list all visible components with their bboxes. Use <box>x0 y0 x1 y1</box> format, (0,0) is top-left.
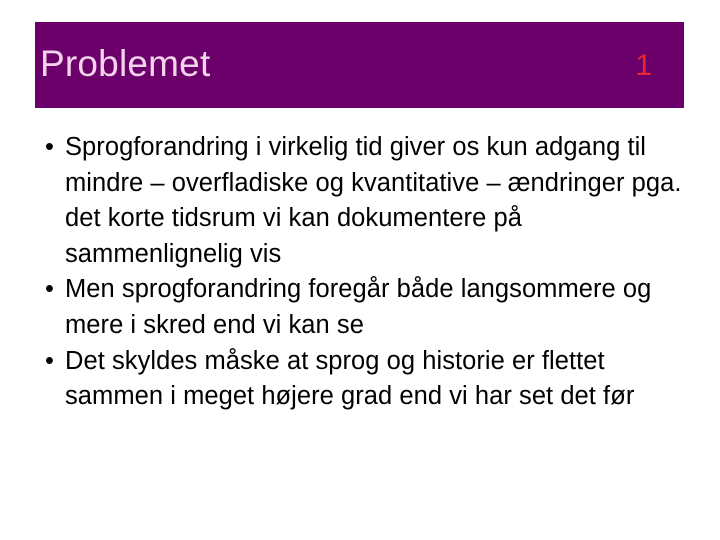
list-item: • Men sprogforandring foregår både langs… <box>33 272 683 343</box>
title-banner: Problemet 1 <box>35 22 684 108</box>
list-item: • Sprogforandring i virkelig tid giver o… <box>33 130 683 272</box>
slide-canvas: Problemet 1 • Sprogforandring i virkelig… <box>0 0 720 540</box>
list-item-text: Men sprogforandring foregår både langsom… <box>65 272 683 343</box>
list-item-text: Sprogforandring i virkelig tid giver os … <box>65 130 683 272</box>
page-title: Problemet <box>40 42 210 86</box>
list-item: • Det skyldes måske at sprog og historie… <box>33 344 683 415</box>
list-item-text: Det skyldes måske at sprog og historie e… <box>65 344 683 415</box>
bullet-icon: • <box>45 130 54 166</box>
bullet-icon: • <box>45 344 54 380</box>
bullet-icon: • <box>45 272 54 308</box>
slide-number: 1 <box>635 48 652 84</box>
body-content: • Sprogforandring i virkelig tid giver o… <box>33 130 683 415</box>
